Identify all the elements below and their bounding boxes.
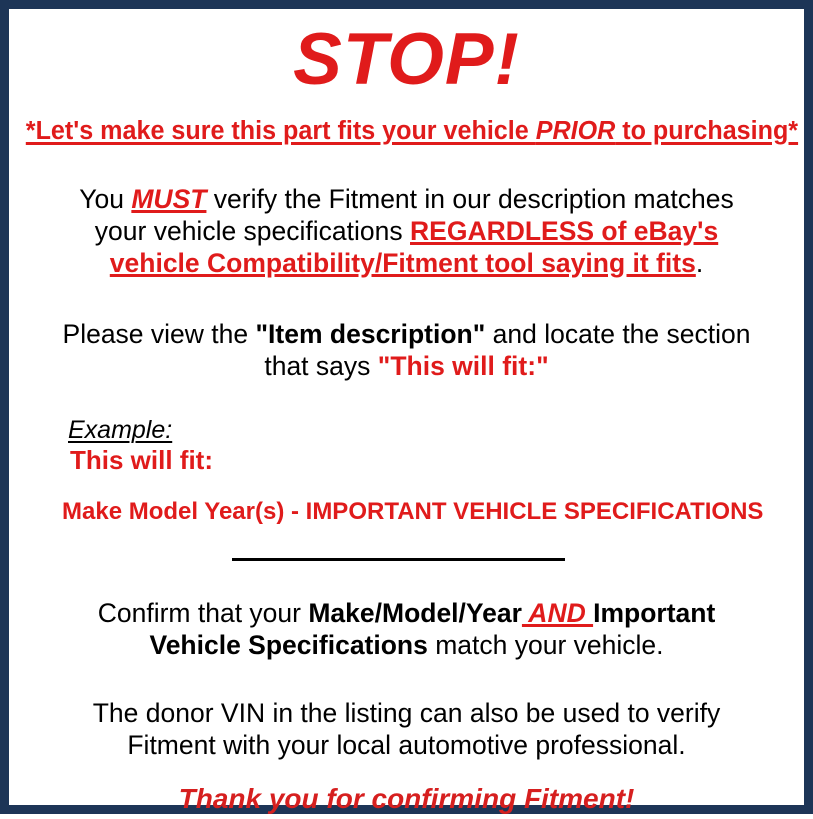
notice-content: STOP! *Let's make sure this part fits yo… xyxy=(9,23,804,819)
view-part1: Please view the xyxy=(63,319,256,349)
divider xyxy=(20,553,793,567)
page-title: STOP! xyxy=(20,23,793,96)
example-vehicle-spec-line: Make Model Year(s) - IMPORTANT VEHICLE S… xyxy=(62,499,793,525)
tagline-emphasis: PRIOR xyxy=(536,117,616,145)
must-part1: You xyxy=(79,184,131,214)
tagline-prefix: *Let's make sure this part fits your veh… xyxy=(26,117,536,145)
and-emphasis: AND xyxy=(522,598,593,628)
closing-message: Thank you for confirming Fitment! xyxy=(20,784,793,815)
must-part3: . xyxy=(696,248,703,278)
example-block: Example: This will fit: Make Model Year(… xyxy=(20,416,793,526)
confirm-part1: Confirm that your xyxy=(98,598,309,628)
example-label-row: Example: xyxy=(68,416,793,444)
divider-rule xyxy=(232,558,565,561)
confirm-part2: match your vehicle. xyxy=(428,630,664,660)
tagline-underlined-group: *Let's make sure this part fits your veh… xyxy=(26,117,798,145)
tagline-suffix: to purchasing* xyxy=(615,117,798,145)
confirm-paragraph: Confirm that your Make/Model/Year AND Im… xyxy=(20,598,793,662)
item-description-emphasis: "Item description" xyxy=(255,319,485,349)
must-emphasis: MUST xyxy=(131,184,206,214)
this-will-fit-emphasis: "This will fit:" xyxy=(378,351,549,381)
example-label: Example: xyxy=(68,416,172,444)
donor-vin-paragraph: The donor VIN in the listing can also be… xyxy=(20,698,793,762)
must-verify-paragraph: You MUST verify the Fitment in our descr… xyxy=(20,184,793,279)
fitment-notice-card: STOP! *Let's make sure this part fits yo… xyxy=(0,0,813,814)
example-this-will-fit: This will fit: xyxy=(70,446,793,475)
item-description-paragraph: Please view the "Item description" and l… xyxy=(20,319,793,383)
tagline: *Let's make sure this part fits your veh… xyxy=(26,117,787,148)
make-model-year-emphasis: Make/Model/Year xyxy=(308,598,522,628)
